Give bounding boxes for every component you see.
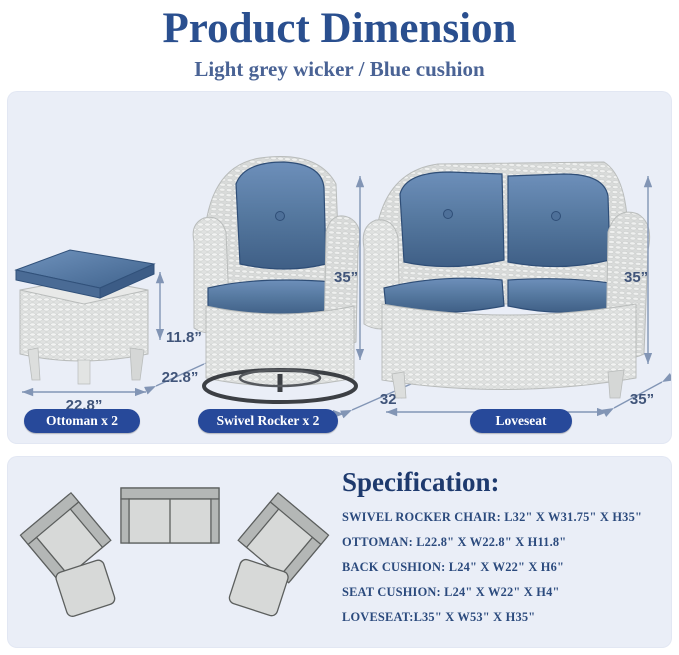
rocker-height-label: 35” bbox=[334, 269, 358, 286]
ottoman-height-label: 11.8” bbox=[166, 329, 202, 346]
spec-item: SEAT CUSHION: L24" X W22" X H4" bbox=[342, 580, 676, 605]
product-dimension-illustration: 22.8” 22.8” 11.8” 31.75” 32” 35” bbox=[8, 92, 671, 443]
badge-swivel-rocker: Swivel Rocker x 2 bbox=[198, 409, 338, 433]
floorplan-loveseat bbox=[121, 488, 219, 543]
specification-heading: Specification: bbox=[342, 466, 499, 498]
specification-list: SWIVEL ROCKER CHAIR: L32" X W31.75" X H3… bbox=[342, 505, 676, 630]
loveseat-illustration: 53” 35” 35” bbox=[363, 162, 662, 434]
page-title: Product Dimension bbox=[0, 4, 679, 54]
loveseat-depth-label: 35” bbox=[630, 391, 654, 408]
badge-ottoman: Ottoman x 2 bbox=[24, 409, 140, 433]
ottoman-depth-label: 22.8” bbox=[162, 369, 199, 386]
page-subtitle: Light grey wicker / Blue cushion bbox=[0, 56, 679, 82]
spec-item: BACK CUSHION: L24" X W22" X H6" bbox=[342, 555, 676, 580]
badge-loveseat: Loveseat bbox=[470, 409, 572, 433]
ottoman-illustration: 22.8” 22.8” 11.8” bbox=[16, 250, 204, 414]
floorplan-illustration bbox=[8, 457, 338, 647]
loveseat-height-label: 35” bbox=[624, 269, 648, 286]
spec-item: LOVESEAT:L35" X W53" X H35" bbox=[342, 605, 676, 630]
spec-item: OTTOMAN: L22.8" X W22.8" X H11.8" bbox=[342, 530, 676, 555]
spec-item: SWIVEL ROCKER CHAIR: L32" X W31.75" X H3… bbox=[342, 505, 676, 530]
